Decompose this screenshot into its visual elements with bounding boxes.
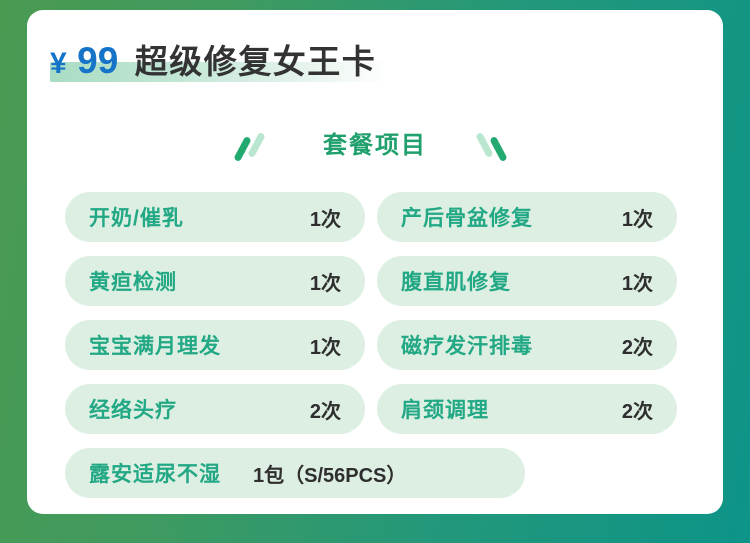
package-title-block: ¥ 99 超级修复女王卡 <box>50 32 376 90</box>
item-name: 开奶/催乳 <box>89 202 184 232</box>
item-count: 1次 <box>622 203 653 232</box>
page-title: ¥ 99 超级修复女王卡 <box>50 32 376 93</box>
item-name: 经络头疗 <box>89 394 177 424</box>
double-slash-left-icon <box>237 132 271 162</box>
list-item: 黄疸检测 1次 <box>65 256 365 306</box>
double-slash-right-icon <box>479 132 513 162</box>
white-card: ¥ 99 超级修复女王卡 套餐项目 开奶/催乳 1次 产 <box>27 10 723 514</box>
item-row: 黄疸检测 1次 腹直肌修复 1次 <box>65 256 707 306</box>
item-name: 磁疗发汗排毒 <box>401 330 533 360</box>
section-header: 套餐项目 <box>27 123 723 171</box>
item-name: 腹直肌修复 <box>401 266 511 296</box>
item-count: 2次 <box>310 395 341 424</box>
item-row: 宝宝满月理发 1次 磁疗发汗排毒 2次 <box>65 320 707 370</box>
title-label: 超级修复女王卡 <box>135 43 377 80</box>
package-item-grid: 开奶/催乳 1次 产后骨盆修复 1次 黄疸检测 1次 腹直肌修复 1次 <box>65 192 707 512</box>
item-name: 肩颈调理 <box>401 394 489 424</box>
item-row: 露安适尿不湿 1包（S/56PCS） <box>65 448 707 498</box>
list-item: 产后骨盆修复 1次 <box>377 192 677 242</box>
section-title: 套餐项目 <box>323 134 427 160</box>
item-count: 2次 <box>622 331 653 360</box>
item-count: 1次 <box>622 267 653 296</box>
list-item: 经络头疗 2次 <box>65 384 365 434</box>
item-count: 1次 <box>310 331 341 360</box>
item-count: 1包（S/56PCS） <box>253 459 406 488</box>
item-name: 宝宝满月理发 <box>89 330 221 360</box>
item-name: 露安适尿不湿 <box>89 458 221 488</box>
list-item: 宝宝满月理发 1次 <box>65 320 365 370</box>
list-item: 开奶/催乳 1次 <box>65 192 365 242</box>
item-row: 经络头疗 2次 肩颈调理 2次 <box>65 384 707 434</box>
item-name: 黄疸检测 <box>89 266 177 296</box>
list-item: 肩颈调理 2次 <box>377 384 677 434</box>
currency-symbol: ¥ <box>50 47 67 80</box>
item-row: 开奶/催乳 1次 产后骨盆修复 1次 <box>65 192 707 242</box>
item-count: 2次 <box>622 395 653 424</box>
list-item: 露安适尿不湿 1包（S/56PCS） <box>65 448 525 498</box>
item-count: 1次 <box>310 267 341 296</box>
promo-card-frame: ¥ 99 超级修复女王卡 套餐项目 开奶/催乳 1次 产 <box>0 0 750 543</box>
price-value: 99 <box>77 40 118 81</box>
item-name: 产后骨盆修复 <box>401 202 533 232</box>
item-count: 1次 <box>310 203 341 232</box>
list-item: 磁疗发汗排毒 2次 <box>377 320 677 370</box>
list-item: 腹直肌修复 1次 <box>377 256 677 306</box>
